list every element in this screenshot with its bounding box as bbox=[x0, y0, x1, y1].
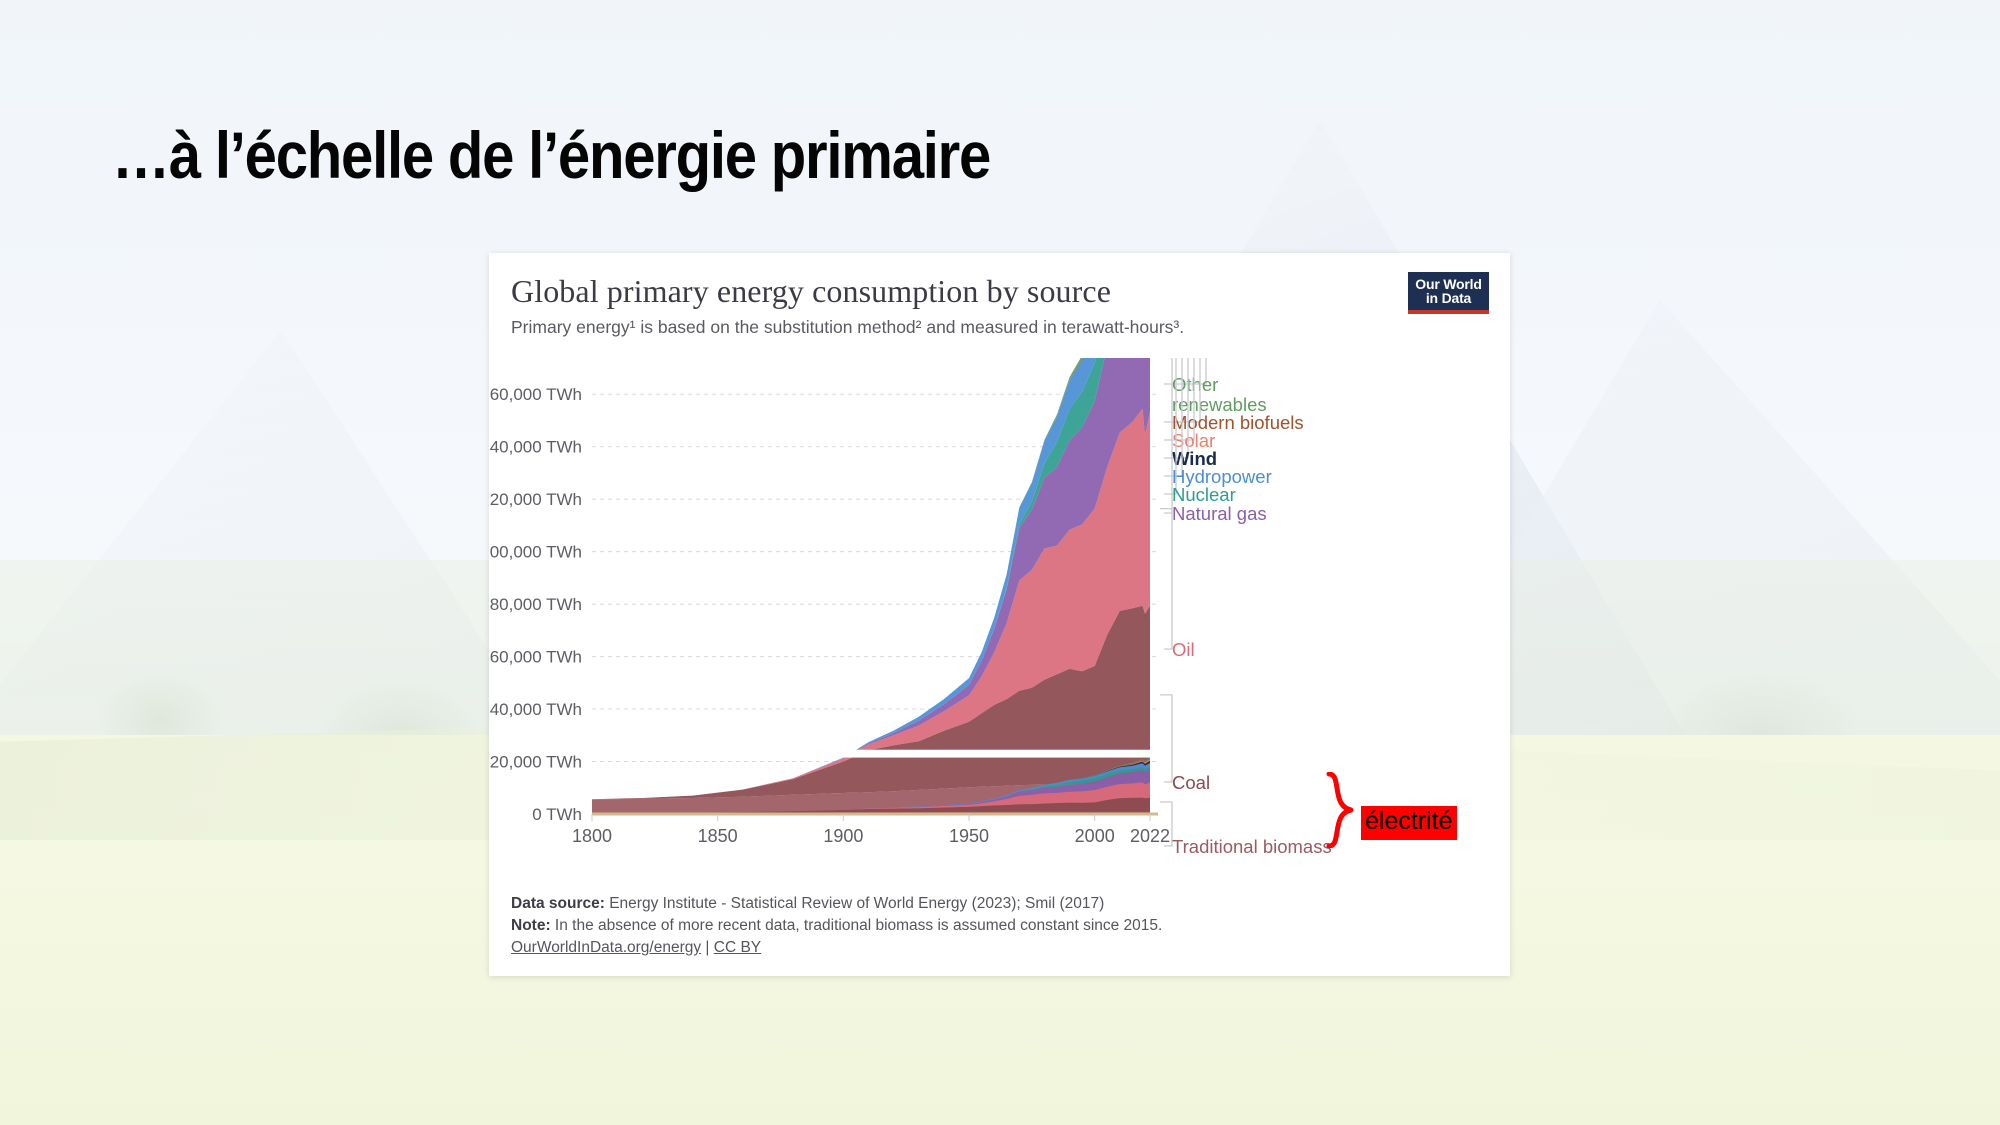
our-world-in-data-logo[interactable]: Our World in Data bbox=[1408, 272, 1489, 314]
x-tick-label: 2022 bbox=[1130, 826, 1170, 846]
legend-group: OtherrenewablesModern biofuelsSolarWindH… bbox=[1160, 358, 1332, 857]
footer-note-text: In the absence of more recent data, trad… bbox=[551, 917, 1163, 934]
x-tick-label: 1900 bbox=[823, 826, 863, 846]
legend-connector-coal bbox=[1160, 695, 1172, 782]
y-tick-label: 20,000 TWh bbox=[490, 753, 582, 772]
y-tick-label: 80,000 TWh bbox=[490, 595, 582, 614]
y-tick-label: 0 TWh bbox=[532, 805, 582, 824]
owid-energy-link[interactable]: OurWorldInData.org/energy bbox=[511, 939, 701, 956]
footer-link-separator: | bbox=[701, 939, 714, 956]
footer-source-line: Data source: Energy Institute - Statisti… bbox=[511, 893, 1162, 915]
footer-source-label: Data source: bbox=[511, 895, 605, 912]
chart-subtitle: Primary energy¹ is based on the substitu… bbox=[511, 317, 1184, 338]
chart-title: Global primary energy consumption by sou… bbox=[511, 273, 1184, 310]
y-tick-label: 100,000 TWh bbox=[489, 543, 582, 562]
plot-area: 0 TWh20,000 TWh40,000 TWh60,000 TWh80,00… bbox=[489, 358, 1510, 913]
logo-line-2: in Data bbox=[1426, 291, 1471, 305]
y-tick-label: 160,000 TWh bbox=[489, 385, 582, 404]
x-axis-tick-labels: 180018501900195020002022 bbox=[572, 814, 1170, 846]
stacked-area-chart: 0 TWh20,000 TWh40,000 TWh60,000 TWh80,00… bbox=[489, 358, 1510, 913]
electricity-annotation-label: électrité bbox=[1361, 806, 1457, 840]
x-tick-label: 1950 bbox=[949, 826, 989, 846]
footer-source-text: Energy Institute - Statistical Review of… bbox=[605, 895, 1104, 912]
y-tick-label: 120,000 TWh bbox=[489, 490, 582, 509]
area-series-group bbox=[592, 358, 1150, 814]
legend-label-traditional-biomass[interactable]: Traditional biomass bbox=[1172, 836, 1332, 857]
logo-line-1: Our World bbox=[1415, 277, 1481, 291]
legend-label-other-renewables[interactable]: Other bbox=[1172, 374, 1218, 395]
legend-connector-natural-gas bbox=[1160, 358, 1172, 513]
cc-by-link[interactable]: CC BY bbox=[714, 939, 761, 956]
footer-links-line: OurWorldInData.org/energy | CC BY bbox=[511, 937, 1162, 959]
slide-title: …à l’échelle de l’énergie primaire bbox=[112, 122, 990, 188]
footer-note-line: Note: In the absence of more recent data… bbox=[511, 915, 1162, 937]
footer-note-label: Note: bbox=[511, 917, 551, 934]
chart-header: Global primary energy consumption by sou… bbox=[511, 273, 1184, 338]
chart-footer: Data source: Energy Institute - Statisti… bbox=[511, 893, 1162, 959]
legend-label-coal[interactable]: Coal bbox=[1172, 772, 1210, 793]
legend-label-nuclear[interactable]: Nuclear bbox=[1172, 484, 1236, 505]
x-tick-label: 2000 bbox=[1075, 826, 1115, 846]
y-tick-label: 40,000 TWh bbox=[490, 700, 582, 719]
y-tick-label: 140,000 TWh bbox=[489, 438, 582, 457]
legend-label-natural-gas[interactable]: Natural gas bbox=[1172, 503, 1267, 524]
y-axis-tick-labels: 0 TWh20,000 TWh40,000 TWh60,000 TWh80,00… bbox=[489, 385, 582, 824]
legend-connector-oil bbox=[1160, 509, 1172, 649]
y-tick-label: 60,000 TWh bbox=[490, 648, 582, 667]
x-tick-label: 1850 bbox=[698, 826, 738, 846]
x-tick-label: 1800 bbox=[572, 826, 612, 846]
chart-card: Global primary energy consumption by sou… bbox=[489, 253, 1510, 976]
legend-label-oil[interactable]: Oil bbox=[1172, 639, 1195, 660]
